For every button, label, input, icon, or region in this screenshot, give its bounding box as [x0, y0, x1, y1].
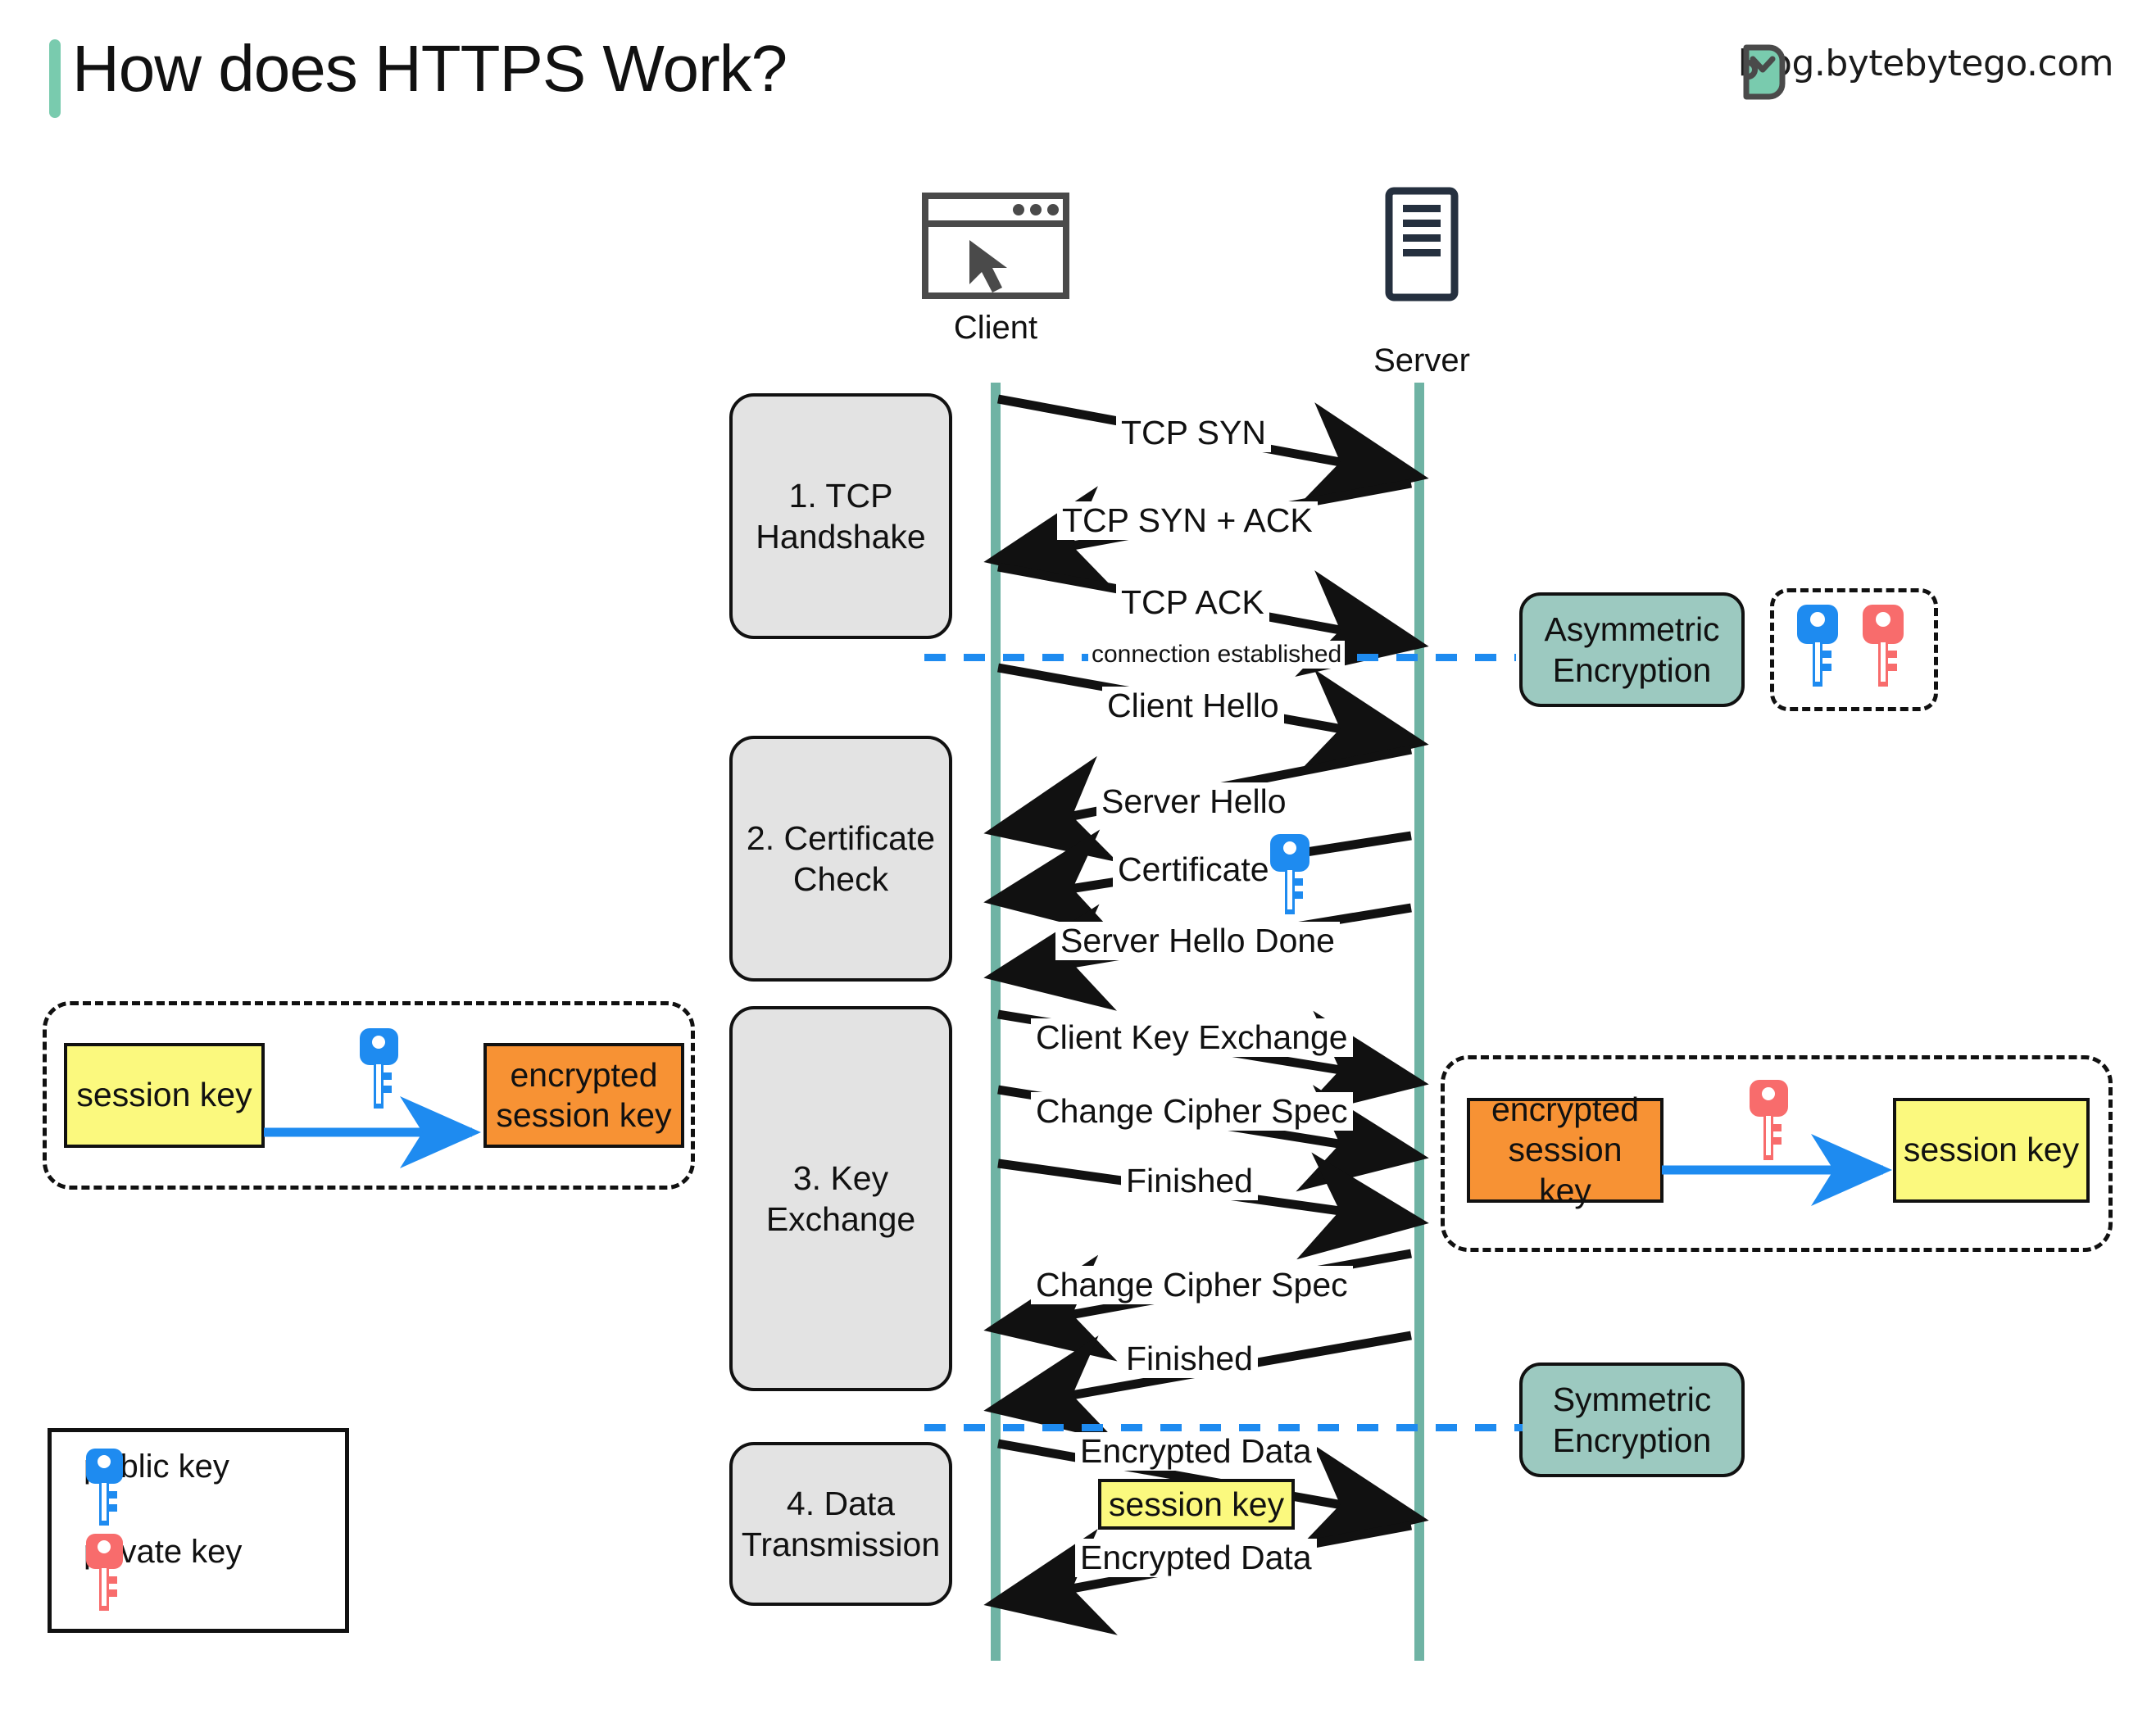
message-label-client-key-exchange: Client Key Exchange	[1031, 1018, 1353, 1057]
message-label-change-cipher-spec-1: Change Cipher Spec	[1031, 1092, 1353, 1131]
diagram-canvas: How does HTTPS Work? blog.bytebytego.com…	[0, 0, 2156, 1723]
inline-session-key-chip: session key	[1098, 1479, 1295, 1530]
message-label-server-hello: Server Hello	[1096, 782, 1291, 821]
symmetric-encryption-line	[924, 1424, 1523, 1431]
message-label-finished-1: Finished	[1121, 1162, 1258, 1200]
message-label-certificate: Certificate	[1113, 850, 1274, 889]
message-label-client-hello: Client Hello	[1102, 687, 1284, 725]
message-label-server-hello-done: Server Hello Done	[1055, 922, 1340, 960]
message-label-tcp-syn: TCP SYN	[1116, 414, 1271, 452]
connection-established-label: connection established	[1088, 641, 1345, 669]
message-label-change-cipher-spec-2: Change Cipher Spec	[1031, 1266, 1353, 1304]
public-key-icon	[357, 1028, 402, 1110]
message-label-tcp-ack: TCP ACK	[1116, 583, 1269, 622]
message-label-finished-2: Finished	[1121, 1340, 1258, 1378]
message-label-encrypted-data-in: Encrypted Data	[1075, 1539, 1317, 1577]
message-label-encrypted-data-out: Encrypted Data	[1075, 1432, 1317, 1471]
certificate-public-key-icon	[1267, 834, 1314, 916]
message-label-tcp-syn-ack: TCP SYN + ACK	[1057, 501, 1318, 540]
private-key-icon	[1747, 1080, 1791, 1162]
